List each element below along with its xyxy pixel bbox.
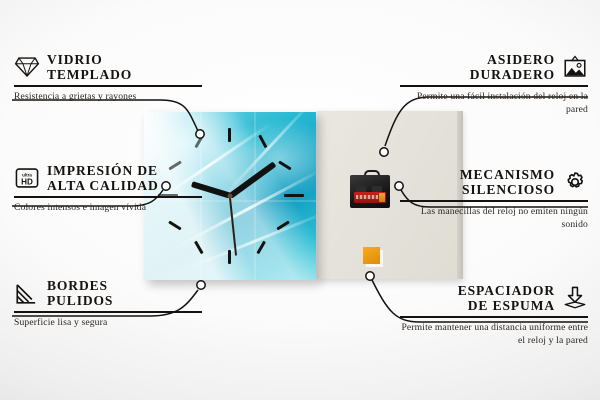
feature-title-line2: PULIDOS [47,293,113,308]
picture-frame-hanger-icon [562,55,588,79]
feature-description: Permite una fácil instalación del reloj … [400,91,588,117]
feature-description: Colores intensos e imagen vívida [14,202,202,215]
gear-icon [562,170,588,194]
feature-description: Resistencia a grietas y rayones [14,91,202,104]
feature-title-line1: IMPRESIÓN DE [47,163,159,178]
feature-title-line2: ALTA CALIDAD [47,178,159,193]
polished-edges-icon [14,281,40,305]
feature-mecanismo-silencioso: MECANISMO SILENCIOSO Las manecillas del … [400,167,588,232]
feature-description: Las manecillas del reloj no emiten ningú… [400,206,588,232]
svg-text:HD: HD [21,178,33,187]
feature-description: Superficie lisa y segura [14,317,202,330]
feature-description: Permite mantener una distancia uniforme … [400,322,588,348]
feature-title-line2: SILENCIOSO [460,182,555,197]
feature-divider [400,200,588,202]
feature-divider [14,311,202,313]
feature-title: MECANISMO SILENCIOSO [460,167,555,197]
feature-title-line2: DURADERO [470,67,555,82]
feature-title: ESPACIADOR DE ESPUMA [458,283,555,313]
feature-divider [400,85,588,87]
clock-mechanism [350,170,390,208]
battery-positive-terminal [379,193,385,202]
feature-impresion-alta-calidad: ultra HD IMPRESIÓN DE ALTA CALIDAD Color… [14,163,202,215]
ultra-hd-icon: ultra HD [14,166,40,190]
feature-title-line1: ESPACIADOR [458,283,555,298]
feature-title: IMPRESIÓN DE ALTA CALIDAD [47,163,159,193]
feature-divider [14,85,202,87]
feature-title: ASIDERO DURADERO [470,52,555,82]
battery-label [356,195,378,199]
infographic-canvas: VIDRIO TEMPLADO Resistencia a grietas y … [0,0,600,400]
clock-tick-3 [284,194,304,197]
svg-text:ultra: ultra [22,172,32,177]
feature-divider [400,316,588,318]
feature-title-line1: BORDES [47,278,113,293]
clock-tick-6 [228,250,231,264]
feature-divider [14,196,202,198]
feature-title: BORDES PULIDOS [47,278,113,308]
feature-title-line1: VIDRIO [47,52,132,67]
feature-asidero-duradero: ASIDERO DURADERO Permite una fácil insta… [400,52,588,117]
feature-title-line1: MECANISMO [460,167,555,182]
feature-vidrio-templado: VIDRIO TEMPLADO Resistencia a grietas y … [14,52,202,104]
feature-title-line1: ASIDERO [470,52,555,67]
feature-title-line2: TEMPLADO [47,67,132,82]
diamond-icon [14,55,40,79]
clock-center-cap [228,194,233,199]
artwork-grid-line [254,112,256,280]
arrow-down-pad-icon [562,286,588,310]
feature-bordes-pulidos: BORDES PULIDOS Superficie lisa y segura [14,278,202,330]
clock-tick-12 [228,128,231,142]
aa-battery [354,192,386,203]
foam-spacer [363,247,380,264]
feature-espaciador-de-espuma: ESPACIADOR DE ESPUMA Permite mantener un… [400,283,588,348]
feature-title: VIDRIO TEMPLADO [47,52,132,82]
feature-title-line2: DE ESPUMA [458,298,555,313]
